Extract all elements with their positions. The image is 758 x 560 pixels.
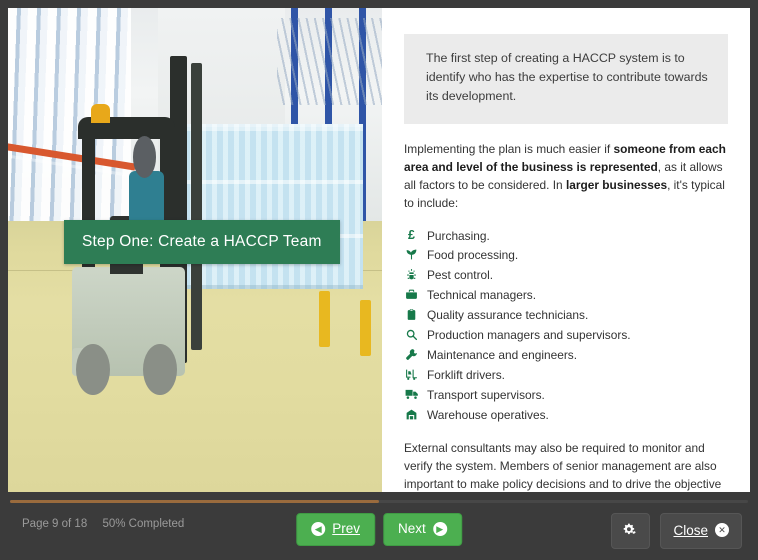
cogs-icon <box>623 522 638 540</box>
forklift-icon <box>404 367 419 382</box>
rack-guard <box>360 300 371 356</box>
list-item-label: Forklift drivers. <box>427 367 505 384</box>
list-item: Production managers and supervisors. <box>404 326 728 346</box>
prev-button[interactable]: ◀ Prev <box>296 513 375 546</box>
next-button-label: Next <box>398 522 426 536</box>
wrench-icon <box>404 347 419 362</box>
forklift-wheel <box>143 344 177 395</box>
close-button-label: Close <box>673 524 708 538</box>
pound-sign-icon: £ <box>404 228 419 243</box>
warehouse-icon <box>404 407 419 422</box>
list-item-label: Transport supervisors. <box>427 387 545 404</box>
next-button[interactable]: Next ▶ <box>383 513 462 546</box>
page-indicator: Page 9 of 18 <box>22 518 87 530</box>
callout-box: The first step of creating a HACCP syste… <box>404 34 728 124</box>
rack-guard <box>319 291 330 347</box>
seedling-icon <box>404 247 419 262</box>
driver-head <box>133 136 156 178</box>
list-item-label: Production managers and supervisors. <box>427 327 631 344</box>
roles-list: £ Purchasing. Food processing. <box>404 226 728 425</box>
forklift-mast-secondary <box>191 63 201 350</box>
circle-arrow-right-icon: ▶ <box>433 522 447 536</box>
list-item: Forklift drivers. <box>404 365 728 385</box>
close-button[interactable]: Close ✕ <box>660 513 742 549</box>
list-item: Warehouse operatives. <box>404 405 728 425</box>
completion-indicator: 50% Completed <box>102 518 184 530</box>
briefcase-icon <box>404 287 419 302</box>
clipboard-icon <box>404 307 419 322</box>
circle-arrow-left-icon: ◀ <box>311 522 325 536</box>
hard-hat <box>91 104 110 123</box>
progress-bar-track <box>10 500 748 503</box>
list-item-label: Purchasing. <box>427 228 490 245</box>
list-item-label: Pest control. <box>427 267 493 284</box>
list-item: Transport supervisors. <box>404 385 728 405</box>
list-item-label: Warehouse operatives. <box>427 407 549 424</box>
settings-button[interactable] <box>611 513 650 549</box>
forklift-wheel <box>76 344 110 395</box>
body-paragraph-intro: Implementing the plan is much easier if … <box>404 140 728 212</box>
slide-text-pane: The first step of creating a HACCP syste… <box>382 8 750 492</box>
progress-status: Page 9 of 18 50% Completed <box>22 518 196 530</box>
footer-tools: Close ✕ <box>611 513 742 549</box>
body-paragraph-outro: External consultants may also be require… <box>404 439 728 492</box>
list-item-label: Technical managers. <box>427 287 536 304</box>
player-footer: Page 9 of 18 50% Completed ◀ Prev Next ▶ <box>0 492 758 560</box>
list-item: Food processing. <box>404 246 728 266</box>
list-item: Quality assurance technicians. <box>404 306 728 326</box>
list-item-label: Food processing. <box>427 247 518 264</box>
list-item: Pest control. <box>404 266 728 286</box>
intro-bold-2: larger businesses <box>566 178 667 192</box>
bug-icon <box>404 267 419 282</box>
truck-icon <box>404 387 419 402</box>
course-player: Step One: Create a HACCP Team The first … <box>0 0 758 560</box>
racking-right-top <box>277 18 382 105</box>
slide-caption: Step One: Create a HACCP Team <box>64 220 340 264</box>
list-item: Maintenance and engineers. <box>404 345 728 365</box>
circle-x-icon: ✕ <box>715 523 729 537</box>
slide-canvas: Step One: Create a HACCP Team The first … <box>8 8 750 492</box>
progress-bar-fill <box>10 500 379 503</box>
intro-text-1: Implementing the plan is much easier if <box>404 142 614 156</box>
forklift <box>68 56 277 375</box>
list-item: Technical managers. <box>404 286 728 306</box>
slide-photo: Step One: Create a HACCP Team <box>8 8 382 492</box>
list-item-label: Maintenance and engineers. <box>427 347 577 364</box>
nav-buttons: ◀ Prev Next ▶ <box>296 513 462 546</box>
list-item-label: Quality assurance technicians. <box>427 307 588 324</box>
list-item: £ Purchasing. <box>404 226 728 246</box>
magnifier-icon <box>404 327 419 342</box>
prev-button-label: Prev <box>332 522 360 536</box>
